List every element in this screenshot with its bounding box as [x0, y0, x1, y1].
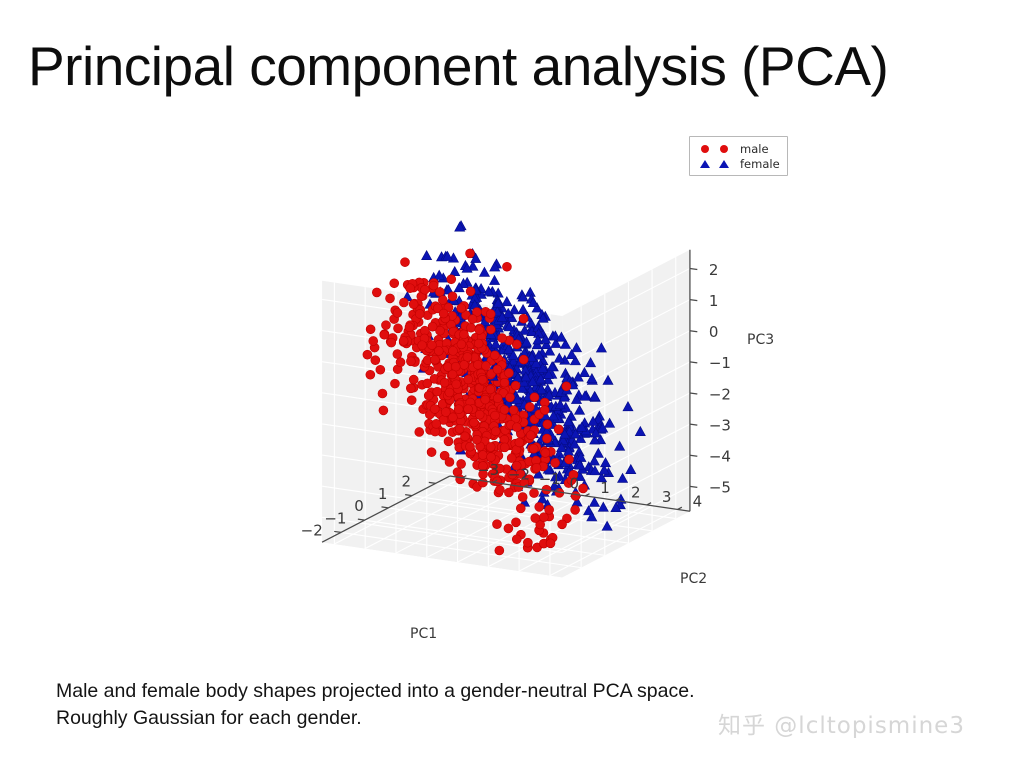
- caption-line-2: Roughly Gaussian for each gender.: [56, 705, 756, 732]
- x-axis-label: PC1: [410, 626, 437, 642]
- scatter-plot-canvas: [258, 128, 798, 668]
- circle-marker-icon: [720, 145, 728, 153]
- page-title: Principal component analysis (PCA): [28, 34, 988, 98]
- figure-caption: Male and female body shapes projected in…: [56, 678, 756, 732]
- z-axis-label: PC3: [747, 332, 774, 348]
- legend-label-female: female: [733, 157, 780, 171]
- caption-line-1: Male and female body shapes projected in…: [56, 678, 756, 705]
- legend-marker-group-male: [695, 145, 733, 153]
- pca-3d-scatter-figure: PC1 PC2 PC3 male female: [258, 128, 798, 668]
- triangle-marker-icon: [719, 160, 729, 168]
- legend-item-female: female: [695, 156, 780, 171]
- legend-label-male: male: [733, 142, 769, 156]
- triangle-marker-icon: [700, 160, 710, 168]
- chart-legend: male female: [689, 136, 788, 176]
- y-axis-label: PC2: [680, 571, 707, 587]
- slide-canvas: Principal component analysis (PCA) PC1 P…: [0, 0, 1014, 760]
- legend-item-male: male: [695, 141, 780, 156]
- legend-marker-group-female: [695, 160, 733, 168]
- circle-marker-icon: [701, 145, 709, 153]
